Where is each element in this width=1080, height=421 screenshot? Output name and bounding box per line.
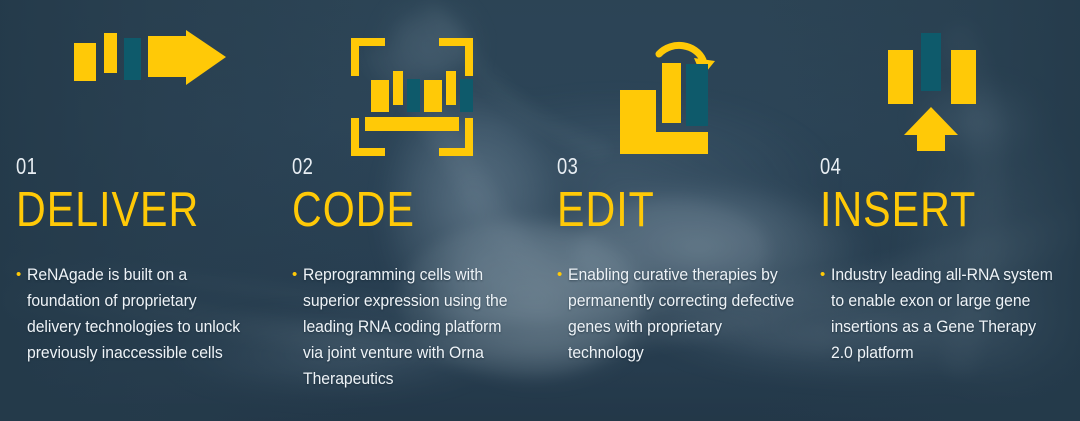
bullet-list: • ReNAgade is built on a foundation of p… [16, 262, 278, 366]
bullet-text: Reprogramming cells with superior expres… [303, 262, 525, 392]
bullet-text: Industry leading all-RNA system to enabl… [831, 262, 1057, 366]
pillar-title-code: CODE [292, 186, 415, 235]
platform-pillars-slide: 01 DELIVER • ReNAgade is built on a foun… [0, 0, 1080, 421]
bullet-list: • Reprogramming cells with superior expr… [292, 262, 540, 392]
step-number: 04 [820, 155, 841, 178]
pillar-columns: 01 DELIVER • ReNAgade is built on a foun… [0, 0, 1080, 421]
bullet-marker-icon: • [292, 262, 303, 288]
step-number: 03 [557, 155, 578, 178]
barcode-scan-brackets-icon [351, 38, 473, 154]
pillar-column-code: 02 CODE • Reprogramming cells with super… [292, 0, 540, 421]
bullet-marker-icon: • [820, 262, 831, 288]
bars-up-arrow-icon [888, 33, 976, 149]
pillar-title-insert: INSERT [820, 186, 976, 235]
pillar-column-deliver: 01 DELIVER • ReNAgade is built on a foun… [16, 0, 278, 421]
pillar-column-edit: 03 EDIT • Enabling curative therapies by… [557, 0, 809, 421]
step-number: 01 [16, 155, 37, 178]
pillar-column-insert: 04 INSERT • Industry leading all-RNA sys… [820, 0, 1068, 421]
bars-curved-arrow-icon [620, 38, 716, 154]
pillar-title-deliver: DELIVER [16, 186, 199, 235]
bullet-text: Enabling curative therapies by permanent… [568, 262, 798, 366]
list-item: • Enabling curative therapies by permane… [557, 262, 809, 366]
list-item: • ReNAgade is built on a foundation of p… [16, 262, 278, 366]
pillar-title-edit: EDIT [557, 186, 655, 235]
list-item: • Reprogramming cells with superior expr… [292, 262, 540, 392]
bars-right-arrow-icon [74, 30, 226, 146]
step-number: 02 [292, 155, 313, 178]
bullet-text: ReNAgade is built on a foundation of pro… [27, 262, 249, 366]
bullet-marker-icon: • [16, 262, 27, 288]
bullet-list: • Enabling curative therapies by permane… [557, 262, 809, 366]
list-item: • Industry leading all-RNA system to ena… [820, 262, 1068, 366]
bullet-list: • Industry leading all-RNA system to ena… [820, 262, 1068, 366]
bullet-marker-icon: • [557, 262, 568, 288]
